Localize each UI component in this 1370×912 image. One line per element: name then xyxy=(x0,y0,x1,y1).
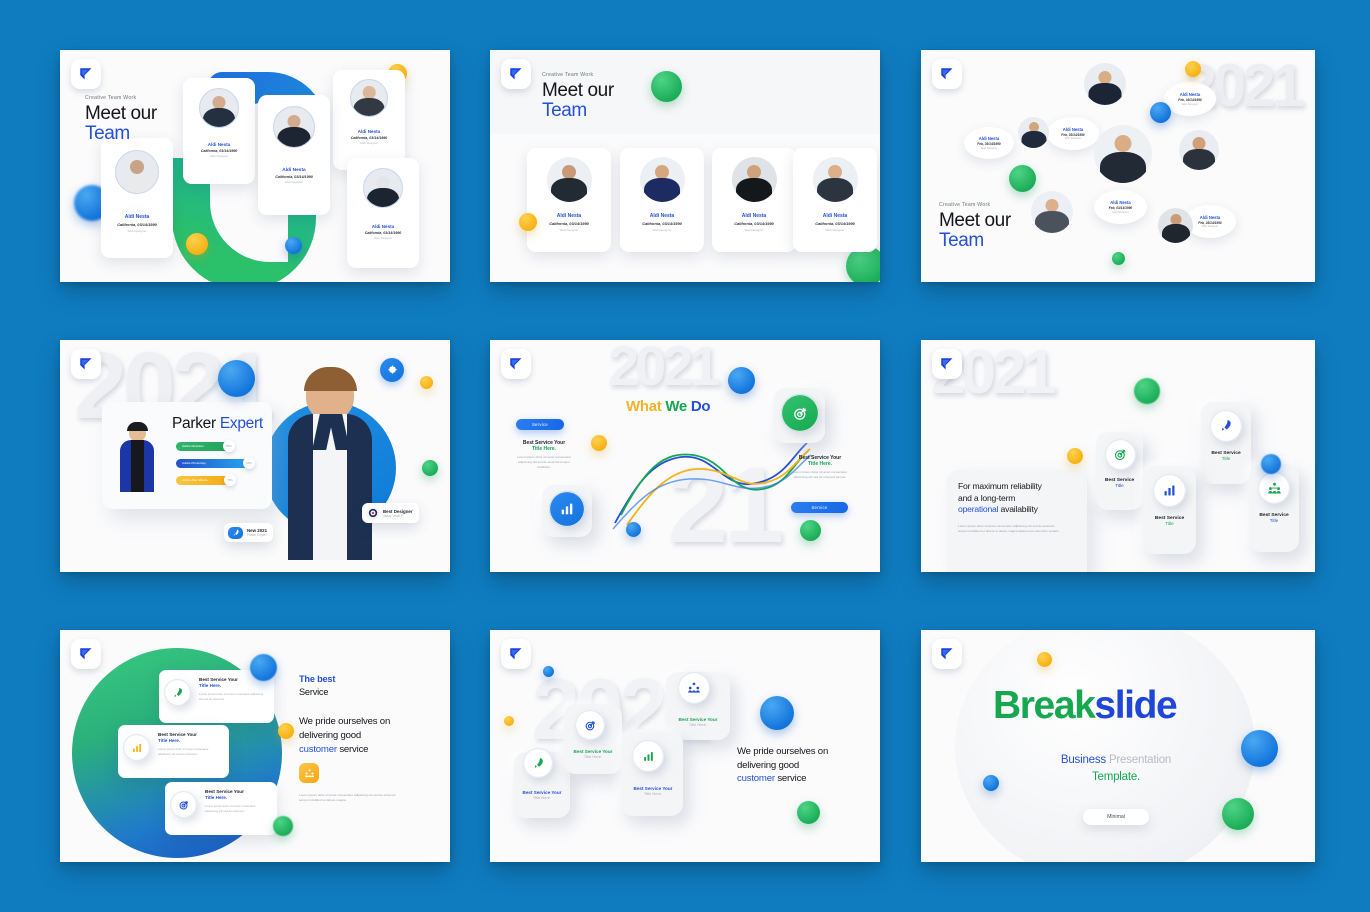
team-icon xyxy=(1258,472,1290,504)
rocket-icon xyxy=(1210,410,1242,442)
skill-bar: Adobe Photoshop xyxy=(176,459,251,468)
card-subtitle: Title Here. xyxy=(158,738,221,744)
target-icon xyxy=(781,394,819,432)
rocket-icon xyxy=(523,748,553,778)
card-title: Best Service Your xyxy=(158,732,197,737)
card-body: Lorem ipsum dolor sit amet consectetur a… xyxy=(158,747,221,756)
card-subtitle: Title Here. xyxy=(513,446,575,452)
card-subtitle: Title Here. xyxy=(786,461,854,467)
member-location: California, 03/14/1990 xyxy=(365,231,402,235)
puzzle-icon xyxy=(380,358,404,382)
slide6-body: Lorem ipsum dolor sit amet consectetur a… xyxy=(958,524,1062,534)
new-2021-badge[interactable]: New 2021 Parker Expert xyxy=(224,523,273,542)
slide2-eyebrow: Creative Team Work xyxy=(542,72,614,78)
member-role: Web Designer xyxy=(365,236,402,240)
slide-thumbnail-7[interactable]: Best Service Your Title Here. Lorem ipsu… xyxy=(60,630,450,862)
member-photo xyxy=(1094,125,1152,183)
team-card: Aldi Nesta California, 03/14/1990 Web De… xyxy=(793,148,877,252)
logo-badge xyxy=(501,59,531,89)
card-body: Lorem ipsum dolor sit amet consectetur a… xyxy=(199,692,266,701)
member-role: Web Designer xyxy=(201,154,238,158)
target-icon xyxy=(1105,439,1136,470)
skill-label: Adobe After Effects xyxy=(182,478,208,482)
card-subtitle: Title Here. xyxy=(558,754,628,759)
member-name: Aldi Nesta xyxy=(117,214,157,220)
card-subtitle: Title xyxy=(1143,521,1196,526)
slide6-heading: For maximum reliability and a long-term … xyxy=(958,481,1082,516)
slide-grid: Creative Team Work Meet our Team Aldi Ne… xyxy=(0,0,1370,912)
skill-label: Adobe Illustrator xyxy=(182,444,204,448)
slide-thumbnail-1[interactable]: Creative Team Work Meet our Team Aldi Ne… xyxy=(60,50,450,282)
member-name: Aldi Nesta xyxy=(351,129,388,134)
card-subtitle: Title xyxy=(1096,483,1143,488)
card-subtitle: Title Here. xyxy=(205,795,269,801)
slide7-lead: We pride ourselves on delivering good cu… xyxy=(299,715,403,756)
member-location: California, 03/14/1990 xyxy=(549,221,589,226)
target-icon xyxy=(170,791,197,818)
slide-thumbnail-9[interactable]: Breakslide Business Presentation Templat… xyxy=(921,630,1315,862)
member-location: California, 03/14/1990 xyxy=(734,221,774,226)
logo-badge xyxy=(501,639,531,669)
member-label: Aldi Nesta Feb, 03/14/1990 Web Designer xyxy=(964,127,1014,159)
member-name: Aldi Nesta xyxy=(275,168,313,173)
slide5-title: What We Do xyxy=(626,398,710,415)
skill-label: Adobe Photoshop xyxy=(182,461,206,465)
member-role: Web Designer xyxy=(351,141,388,145)
member-name: Aldi Nesta xyxy=(549,213,589,219)
slide7-body: Lorem ipsum dolor sit amet consectetur a… xyxy=(299,793,403,803)
slide1-eyebrow: Creative Team Work xyxy=(85,95,157,101)
rocket-icon xyxy=(164,679,191,706)
member-role: Web Designer xyxy=(549,228,589,232)
logo-badge xyxy=(932,59,962,89)
slide-thumbnail-2[interactable]: 2021 Creative Team Work Meet our Team Al… xyxy=(490,50,880,282)
member-location: California, 03/14/1990 xyxy=(815,221,855,226)
member-role: Web Designer xyxy=(275,180,313,184)
card-body: Lorem ipsum dolor sit amet consectetur a… xyxy=(205,804,269,813)
member-name: Aldi Nesta xyxy=(815,213,855,219)
card-title: Best Service Your xyxy=(205,789,244,794)
team-card: Aldi Nesta California, 03/14/1990 Web De… xyxy=(347,158,419,268)
rocket-icon xyxy=(228,527,243,539)
card-body: Lorem ipsum dolor sit amet consectetur a… xyxy=(786,470,854,480)
target-icon xyxy=(575,710,605,740)
member-location: California, 03/14/1990 xyxy=(642,221,682,226)
member-photo xyxy=(1084,63,1126,105)
card-subtitle: Title xyxy=(1201,456,1251,461)
best-designer-badge[interactable]: Best Designer Jadoy Vitain P xyxy=(362,503,419,523)
member-location: California, 03/14/1990 xyxy=(117,222,157,227)
team-card: Aldi Nesta California, 03/14/1990 Web De… xyxy=(258,95,330,215)
watermark-year-top: 2021 xyxy=(608,344,717,389)
chart-icon xyxy=(632,740,664,772)
slide-thumbnail-5[interactable]: 2021 21 What We Do Service Best Service … xyxy=(490,340,880,572)
service-button-right[interactable]: Service xyxy=(791,502,848,513)
brand-title: Breakslide xyxy=(993,686,1176,725)
team-card: Aldi Nesta California, 03/14/1990 Web De… xyxy=(333,70,405,170)
member-location: California, 03/14/1990 xyxy=(275,175,313,179)
logo-badge xyxy=(501,349,531,379)
member-role: Web Designer xyxy=(815,228,855,232)
service-card: Best Service Your Title Here. Lorem ipsu… xyxy=(165,782,277,835)
slide-thumbnail-6[interactable]: 2021 For maximum reliability and a long-… xyxy=(921,340,1315,572)
logo-badge xyxy=(71,349,101,379)
slide-thumbnail-8[interactable]: 2021 Best Service Your Title Here. Best … xyxy=(490,630,880,862)
member-photo xyxy=(1031,191,1073,233)
brand-subtitle: Business Presentation Template. xyxy=(1016,752,1216,785)
skill-value: 85% xyxy=(223,440,235,452)
slide4-title: Parker Expert xyxy=(172,415,263,433)
chart-icon xyxy=(549,491,585,527)
member-role: Web Designer xyxy=(117,229,157,233)
member-photo xyxy=(1179,130,1219,170)
team-card: Aldi Nesta California, 03/14/1990 Web De… xyxy=(620,148,704,252)
slide1-title: Meet our Team xyxy=(85,104,157,144)
service-card: Best Service Your Title Here. Lorem ipsu… xyxy=(118,725,229,778)
slide-thumbnail-3[interactable]: 2021 Aldi Ne xyxy=(921,50,1315,282)
card-subtitle: Title Here. xyxy=(662,722,734,727)
slide7-heading: The best Service xyxy=(299,673,403,698)
member-role: Web Designer xyxy=(642,228,682,232)
skill-value: 75% xyxy=(224,474,236,486)
slide3-title: Meet our Team xyxy=(939,211,1011,251)
card-body: Lorem ipsum dolor sit amet consectetur a… xyxy=(513,455,575,469)
slide3-eyebrow: Creative Team Work xyxy=(939,202,1011,208)
chart-icon xyxy=(1153,474,1186,507)
member-photo xyxy=(1018,117,1049,148)
minimal-button[interactable]: Minimal xyxy=(1083,809,1149,825)
card-subtitle: Title Here. xyxy=(618,791,688,796)
card-subtitle: Title xyxy=(1249,518,1299,523)
team-card: Aldi Nesta California, 03/14/1990 Web De… xyxy=(712,148,796,252)
card-subtitle: Title Here. xyxy=(199,683,266,689)
team-icon xyxy=(678,672,710,704)
member-role: Web Designer xyxy=(734,228,774,232)
card-subtitle: Title Here. xyxy=(510,795,574,800)
logo-badge xyxy=(932,639,962,669)
member-location: California, 03/14/1990 xyxy=(351,136,388,140)
member-label: Aldi Nesta Feb, 03/14/1990 Web Designer xyxy=(1047,117,1099,150)
member-name: Aldi Nesta xyxy=(201,142,238,147)
team-card: Aldi Nesta California, 03/14/1990 Web De… xyxy=(527,148,611,252)
skill-value: 95% xyxy=(243,457,255,469)
presentation-thumbnail-board: Creative Team Work Meet our Team Aldi Ne… xyxy=(0,0,1370,912)
slide-thumbnail-4[interactable]: 2021 Parker Expert xyxy=(60,340,450,572)
team-icon xyxy=(299,763,319,783)
team-card: Aldi Nesta California, 03/14/1990 Web De… xyxy=(101,138,173,258)
slide8-lead: We pride ourselves on delivering good cu… xyxy=(737,745,828,786)
service-button-left[interactable]: Service xyxy=(516,419,564,430)
member-photo xyxy=(1158,208,1193,243)
member-label: Aldi Nesta Feb, 03/14/1990 Web Designer xyxy=(1164,82,1216,116)
member-name: Aldi Nesta xyxy=(365,224,402,229)
member-label: Aldi Nesta Feb, 03/14/1990 Web Designer xyxy=(1094,190,1147,224)
team-card: Aldi Nesta California, 03/14/1990 Web De… xyxy=(183,78,255,184)
logo-badge xyxy=(932,349,962,379)
logo-badge xyxy=(71,59,101,89)
slide2-title: Meet our Team xyxy=(542,81,614,121)
chart-icon xyxy=(123,734,150,761)
target-icon xyxy=(366,507,379,520)
card-title: Best Service Your xyxy=(199,677,238,682)
member-name: Aldi Nesta xyxy=(642,213,682,219)
member-location: California, 03/14/1990 xyxy=(201,149,238,153)
member-name: Aldi Nesta xyxy=(734,213,774,219)
logo-badge xyxy=(71,639,101,669)
